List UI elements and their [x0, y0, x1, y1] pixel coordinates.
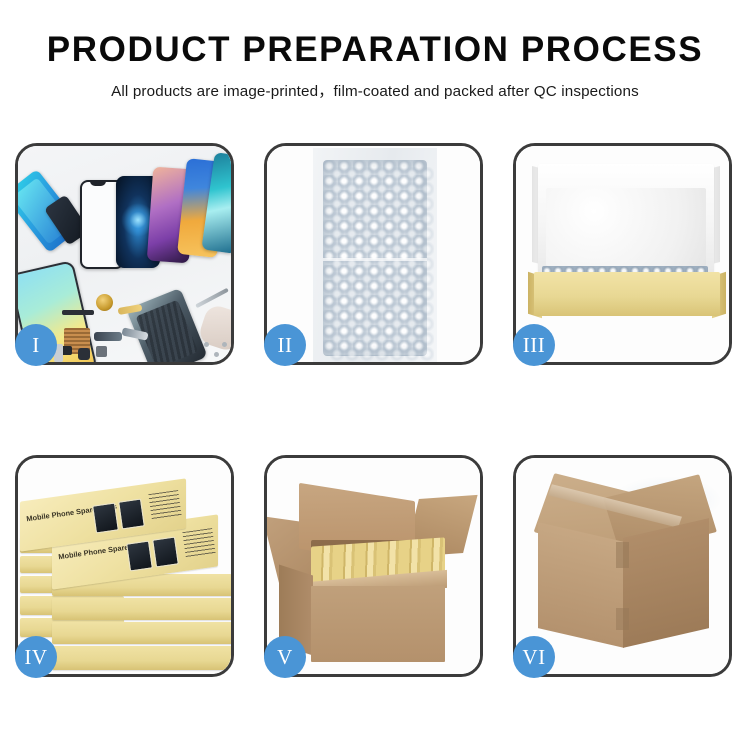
carton-left-face-icon	[538, 522, 624, 648]
step-number-badge-6: VI	[513, 636, 555, 678]
process-step-panel-1: I	[15, 143, 234, 365]
process-step-panel-3: III	[513, 143, 732, 365]
page-title: PRODUCT PREPARATION PROCESS	[0, 30, 750, 70]
speaker-part-icon	[96, 294, 113, 311]
carton-tape-tab-bottom-icon	[616, 608, 629, 630]
page-subtitle: All products are image-printed，film-coat…	[0, 79, 750, 101]
process-step-panel-4: Mobile Phone Spare Parts Mobile Phone Sp…	[15, 455, 234, 677]
stacked-box	[52, 646, 231, 670]
step-number-badge-3: III	[513, 324, 555, 366]
step-number-badge-2: II	[264, 324, 306, 366]
box-thumbnail-icon	[152, 537, 179, 568]
stacked-box	[52, 598, 231, 620]
box-thumbnail-icon	[92, 503, 119, 534]
box-thumbnail-icon	[118, 499, 145, 530]
screw-icon	[222, 342, 227, 347]
carton-tape-tab-top-icon	[616, 542, 629, 568]
flex-cable-dark-icon	[94, 332, 122, 341]
box-tray-icon	[534, 272, 720, 316]
screw-icon	[214, 352, 219, 357]
foam-padding-icon	[546, 188, 706, 266]
screw-icon	[204, 342, 209, 347]
page-header: PRODUCT PREPARATION PROCESS All products…	[0, 0, 750, 101]
bubble-wrap-overlay-icon	[330, 167, 434, 362]
box-spec-lines-icon	[182, 528, 215, 558]
carton-right-face-icon	[623, 518, 709, 648]
step-number-badge-5: V	[264, 636, 306, 678]
process-step-panel-6: VI	[513, 455, 732, 677]
step-number-badge-1: I	[15, 324, 57, 366]
box-spec-lines-icon	[148, 490, 181, 520]
process-step-panel-5: V	[264, 455, 483, 677]
bubble-wrap-seam-icon	[323, 258, 427, 261]
camera-module-icon	[78, 348, 90, 360]
box-thumbnail-icon	[126, 541, 153, 572]
process-step-panel-2: II	[264, 143, 483, 365]
earpiece-part-icon	[62, 310, 94, 315]
stacked-box	[52, 622, 231, 644]
step-number-badge-4: IV	[15, 636, 57, 678]
button-part-icon	[96, 346, 107, 357]
carton-front-panel-icon	[311, 586, 445, 662]
process-steps-grid: I II III	[15, 143, 735, 677]
